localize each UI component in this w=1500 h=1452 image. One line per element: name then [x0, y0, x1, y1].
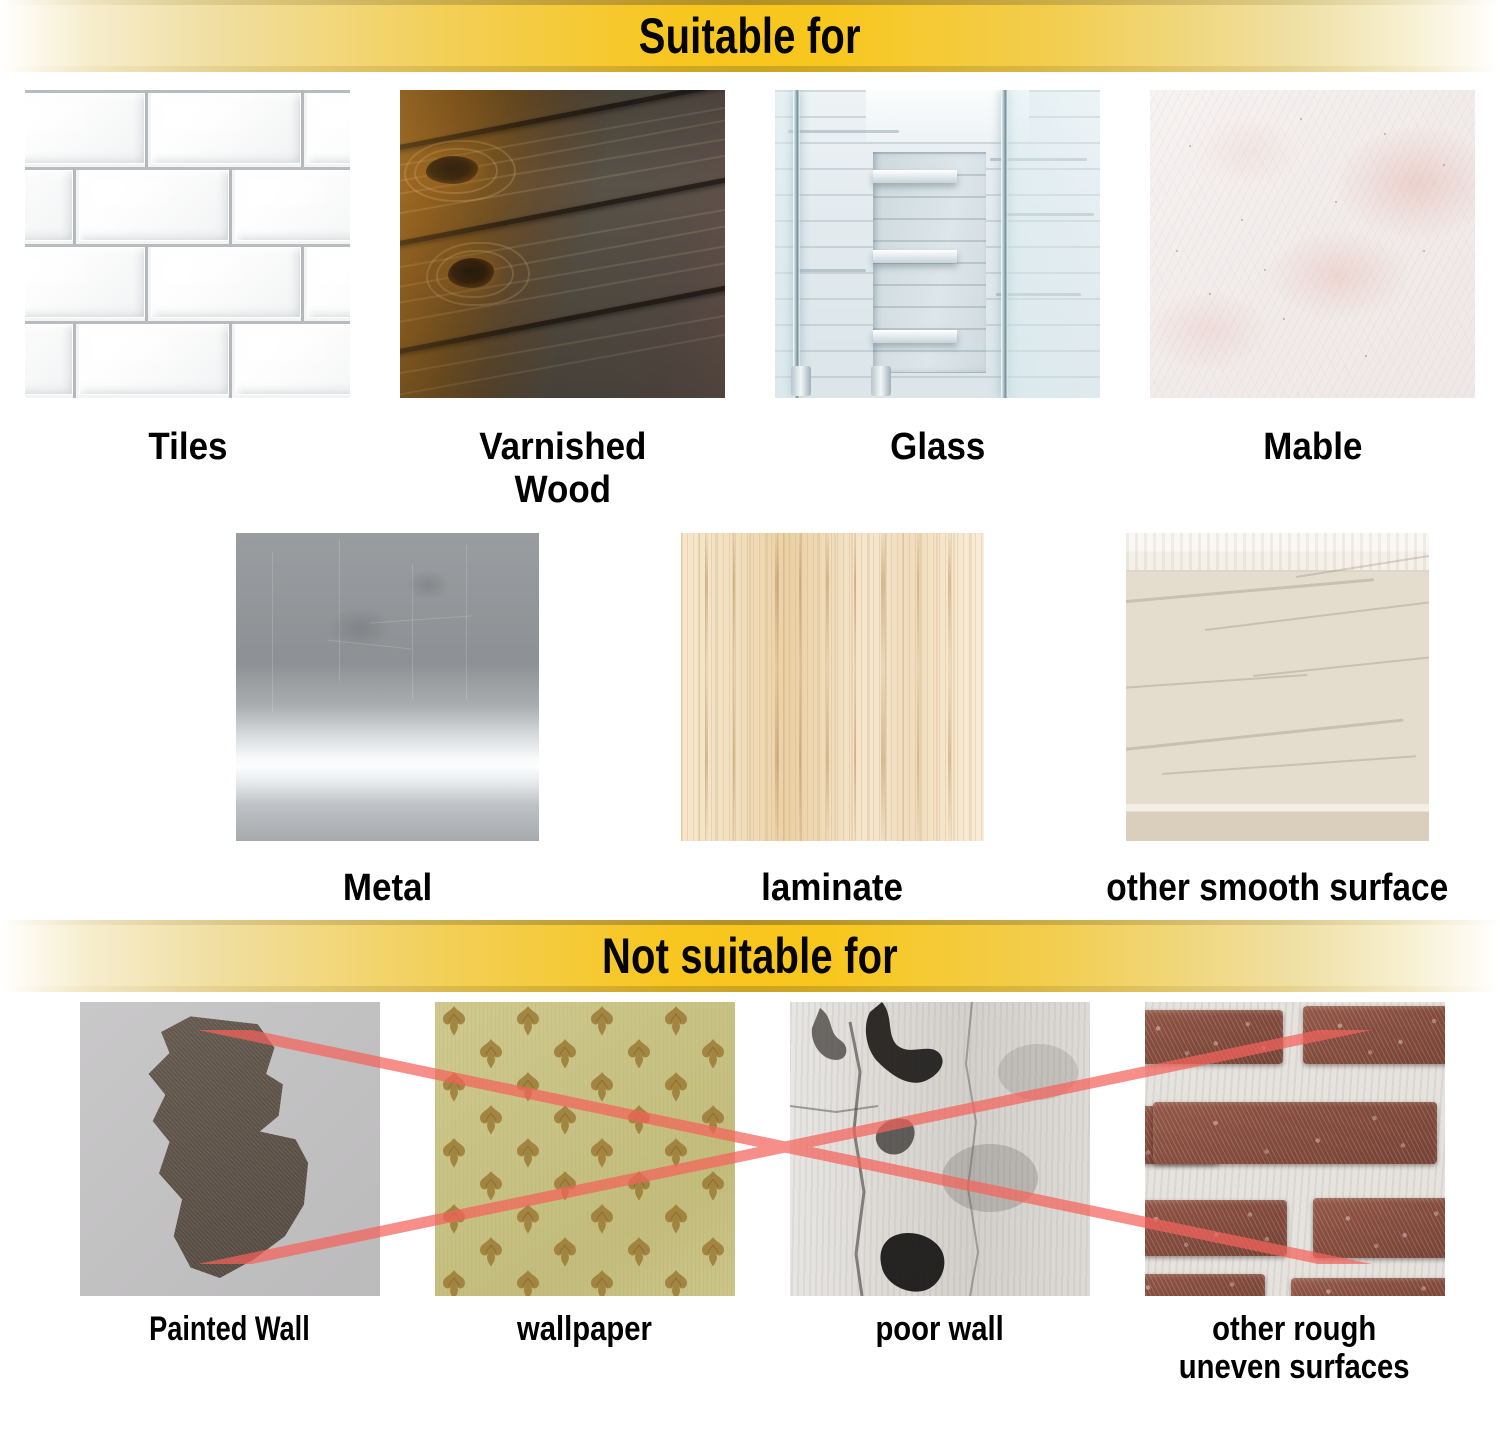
other-rough-uneven-surfaces-label: other rough uneven surfaces	[1179, 1310, 1410, 1386]
not-suitable-for-banner: Not suitable for	[0, 920, 1500, 992]
suitable-item-laminate: laminate	[610, 533, 1055, 910]
suitable-item-varnished-wood: Varnished Wood	[375, 90, 750, 511]
varnished-wood-label: Varnished Wood	[479, 426, 646, 511]
not-suitable-item-other-rough-uneven-surfaces: other rough uneven surfaces	[1117, 1002, 1472, 1386]
suitable-for-banner: Suitable for	[0, 0, 1500, 72]
mable-image	[1150, 90, 1475, 398]
poor-wall-label: poor wall	[875, 1310, 1003, 1348]
painted-wall-image	[80, 1002, 380, 1296]
laminate-label: laminate	[762, 867, 904, 910]
suitable-item-mable: Mable	[1125, 90, 1500, 511]
suitable-row-1: Tiles Varnished Wood	[0, 90, 1500, 511]
not-suitable-item-poor-wall: poor wall	[762, 1002, 1117, 1386]
laminate-image	[681, 533, 984, 841]
not-suitable-for-title: Not suitable for	[602, 931, 898, 981]
damask-motif-pattern	[435, 1002, 735, 1296]
tiles-label: Tiles	[148, 426, 227, 469]
wall-damage-shapes	[790, 1002, 1090, 1296]
suitable-item-tiles: Tiles	[0, 90, 375, 511]
metal-image	[236, 533, 539, 841]
not-suitable-item-wallpaper: wallpaper	[407, 1002, 762, 1386]
painted-wall-label: Painted Wall	[149, 1310, 310, 1348]
poor-wall-image	[790, 1002, 1090, 1296]
glass-label: Glass	[890, 426, 985, 469]
brick-wall-image	[1145, 1002, 1445, 1296]
suitable-item-metal: Metal	[165, 533, 610, 910]
not-suitable-row: Painted Wall wallpaper	[0, 1002, 1500, 1386]
tiles-image	[25, 90, 350, 398]
suitable-for-title: Suitable for	[639, 11, 861, 61]
not-suitable-item-painted-wall: Painted Wall	[52, 1002, 407, 1386]
suitable-item-other-smooth-surface: other smooth surface	[1055, 533, 1500, 910]
suitable-item-glass: Glass	[750, 90, 1125, 511]
varnished-wood-image	[400, 90, 725, 398]
suitable-row-2: Metal laminate other smooth surfa	[0, 533, 1500, 910]
wallpaper-label: wallpaper	[517, 1310, 652, 1348]
glass-image	[775, 90, 1100, 398]
other-smooth-surface-label: other smooth surface	[1107, 867, 1449, 910]
mable-label: Mable	[1263, 426, 1362, 469]
wallpaper-image	[435, 1002, 735, 1296]
other-smooth-surface-image	[1126, 533, 1429, 841]
metal-label: Metal	[343, 867, 432, 910]
